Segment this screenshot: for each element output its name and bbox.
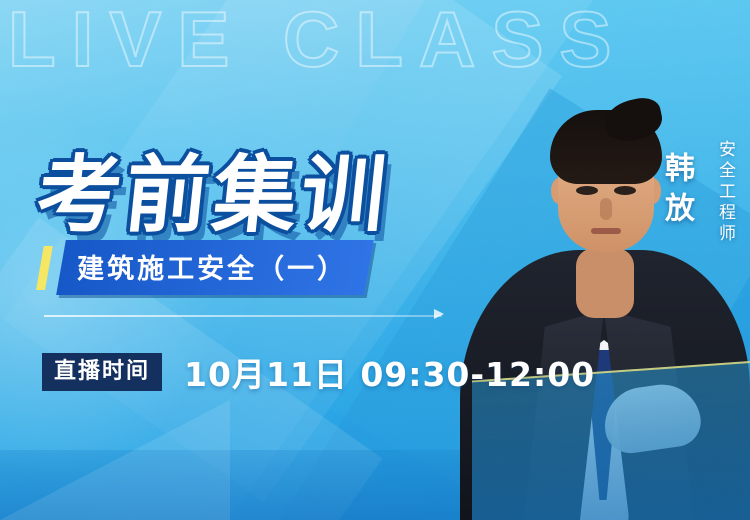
mouth-shape bbox=[591, 228, 621, 234]
subtitle-accent-bar bbox=[36, 246, 53, 290]
background-triangle bbox=[0, 400, 230, 520]
divider-line bbox=[44, 315, 442, 317]
broadcast-time-value: 10月11日 09:30-12:00 bbox=[184, 348, 595, 396]
neck-shape bbox=[576, 248, 634, 318]
teacher-photo-panel bbox=[454, 0, 750, 520]
nose-shape bbox=[600, 198, 612, 220]
subtitle-ribbon-body: 建筑施工安全（一） bbox=[56, 240, 374, 295]
teacher-name-label: 韩放 bbox=[654, 152, 698, 232]
broadcast-time-row: 直播时间 10月11日 09:30-12:00 bbox=[42, 348, 595, 396]
broadcast-time-badge: 直播时间 bbox=[42, 353, 162, 391]
eye-right bbox=[614, 186, 636, 195]
subtitle-text: 建筑施工安全（一） bbox=[77, 247, 347, 286]
teacher-role-label: 安全工程师 bbox=[713, 140, 738, 245]
page-title: 考前集训 bbox=[32, 128, 397, 249]
arrow-right-icon bbox=[434, 309, 444, 319]
eye-left bbox=[576, 186, 598, 195]
live-class-poster: LIVE CLASS 安全工程师 韩放 考前集训 bbox=[0, 0, 750, 520]
subtitle-ribbon: 建筑施工安全（一） bbox=[35, 240, 374, 295]
